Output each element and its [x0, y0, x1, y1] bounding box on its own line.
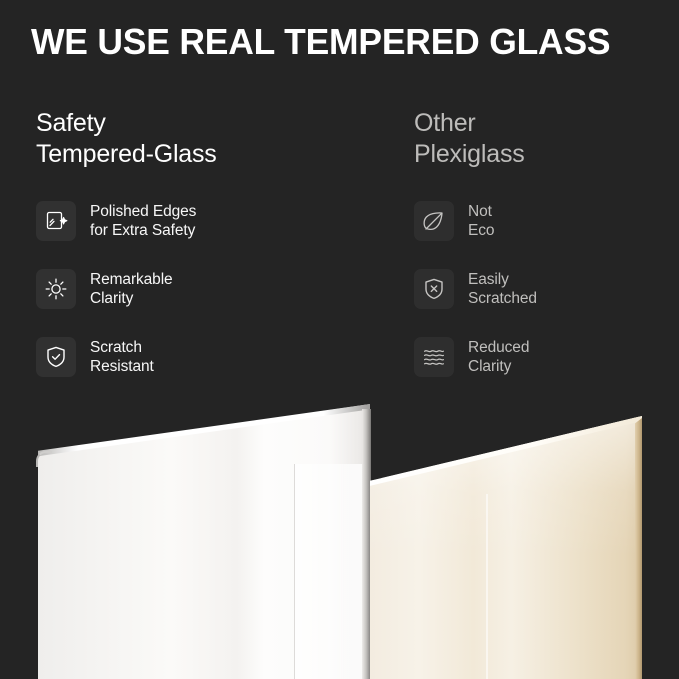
column-safety-tempered-glass: Safety Tempered-Glass Polished Edges for…	[36, 108, 366, 380]
shield-check-icon	[36, 337, 76, 377]
feature-row-polished-edges: Polished Edges for Extra Safety	[36, 198, 366, 244]
shield-x-icon	[414, 269, 454, 309]
product-comparison-photo	[0, 396, 679, 679]
feature-row-easily-scratched: Easily Scratched	[414, 266, 669, 312]
feature-label-scratch-resistant: Scratch Resistant	[90, 338, 154, 377]
polished-edge-sparkle-icon	[36, 201, 76, 241]
plexi-panel-right-edge	[635, 418, 642, 679]
comparison-infographic: WE USE REAL TEMPERED GLASS Safety Temper…	[0, 0, 679, 679]
feature-row-scratch-resistant: Scratch Resistant	[36, 334, 366, 380]
feature-list-left: Polished Edges for Extra Safety Remarkab…	[36, 198, 366, 380]
column-heading-left: Safety Tempered-Glass	[36, 108, 366, 170]
feature-list-right: Not Eco Easily Scratched	[414, 198, 669, 380]
feature-label-reduced-clarity: Reduced Clarity	[468, 338, 529, 377]
column-other-plexiglass: Other Plexiglass Not Eco	[414, 108, 669, 380]
feature-row-not-eco: Not Eco	[414, 198, 669, 244]
glass-panel-rounded-corner	[36, 451, 52, 467]
glass-panel-right-edge	[362, 409, 371, 679]
feature-label-polished-edges: Polished Edges for Extra Safety	[90, 202, 196, 241]
feature-label-easily-scratched: Easily Scratched	[468, 270, 537, 309]
page-title: WE USE REAL TEMPERED GLASS	[31, 20, 652, 64]
feature-row-reduced-clarity: Reduced Clarity	[414, 334, 669, 380]
feature-row-remarkable-clarity: Remarkable Clarity	[36, 266, 366, 312]
feature-label-not-eco: Not Eco	[468, 202, 494, 241]
plexi-panel-reflection	[486, 494, 488, 679]
leaf-crossed-out-icon	[414, 201, 454, 241]
brightness-sun-icon	[36, 269, 76, 309]
wavy-lines-blur-icon	[414, 337, 454, 377]
column-heading-right: Other Plexiglass	[414, 108, 669, 170]
feature-label-remarkable-clarity: Remarkable Clarity	[90, 270, 173, 309]
plexiglass-panel	[370, 416, 642, 679]
